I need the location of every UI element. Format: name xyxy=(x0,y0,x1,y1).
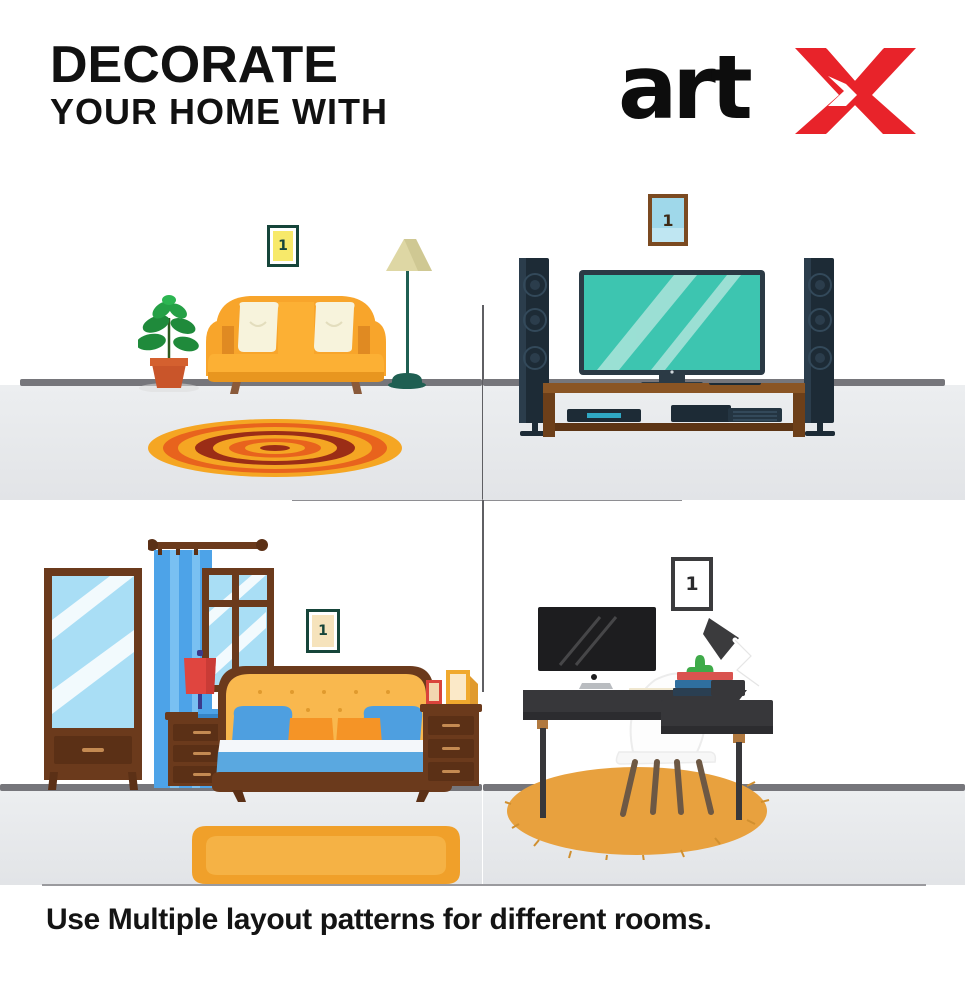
room-living-room: 1 xyxy=(0,175,482,500)
wall-frame-bedroom[interactable]: 1 xyxy=(306,609,340,653)
brand-logo: art xyxy=(618,40,918,145)
tv-stand xyxy=(543,383,805,441)
frame-artwork: 1 xyxy=(273,231,293,261)
yellow-sofa xyxy=(198,280,394,400)
tower-speaker-right xyxy=(803,258,837,438)
room-office: 1 xyxy=(483,500,965,885)
page-title: DECORATE YOUR HOME WITH xyxy=(50,38,388,132)
room-tv-room: 1 xyxy=(483,175,965,500)
bed xyxy=(212,660,452,802)
headline-line-2: YOUR HOME WITH xyxy=(50,92,388,132)
round-rug xyxy=(148,418,402,478)
frame-artwork: 1 xyxy=(652,198,684,242)
wall-frame-tv[interactable]: 1 xyxy=(648,194,688,246)
logo-x-icon xyxy=(793,45,918,137)
headline-line-1: DECORATE xyxy=(50,38,388,92)
floor-lamp xyxy=(374,223,440,391)
logo-wordmark: art xyxy=(618,40,748,136)
side-table xyxy=(661,696,781,820)
frame-artwork: 1 xyxy=(678,564,706,604)
rectangular-rug xyxy=(192,826,460,885)
desk-lamp xyxy=(693,612,775,698)
room-bedroom: 1 xyxy=(0,500,482,885)
footer-divider xyxy=(42,884,926,886)
standing-mirror xyxy=(40,568,146,790)
header: DECORATE YOUR HOME WITH art xyxy=(0,0,965,175)
footer-caption: Use Multiple layout patterns for differe… xyxy=(46,903,926,937)
monitor xyxy=(538,607,656,689)
frame-artwork: 1 xyxy=(312,615,334,647)
wall-frame-office[interactable]: 1 xyxy=(671,557,713,611)
potted-plant xyxy=(138,280,200,392)
photo-frames xyxy=(424,668,480,706)
poster-canvas: DECORATE YOUR HOME WITH art 1 xyxy=(0,0,965,1000)
nightstand-right xyxy=(420,704,482,790)
wall-frame-living[interactable]: 1 xyxy=(267,225,299,267)
television xyxy=(579,270,765,390)
